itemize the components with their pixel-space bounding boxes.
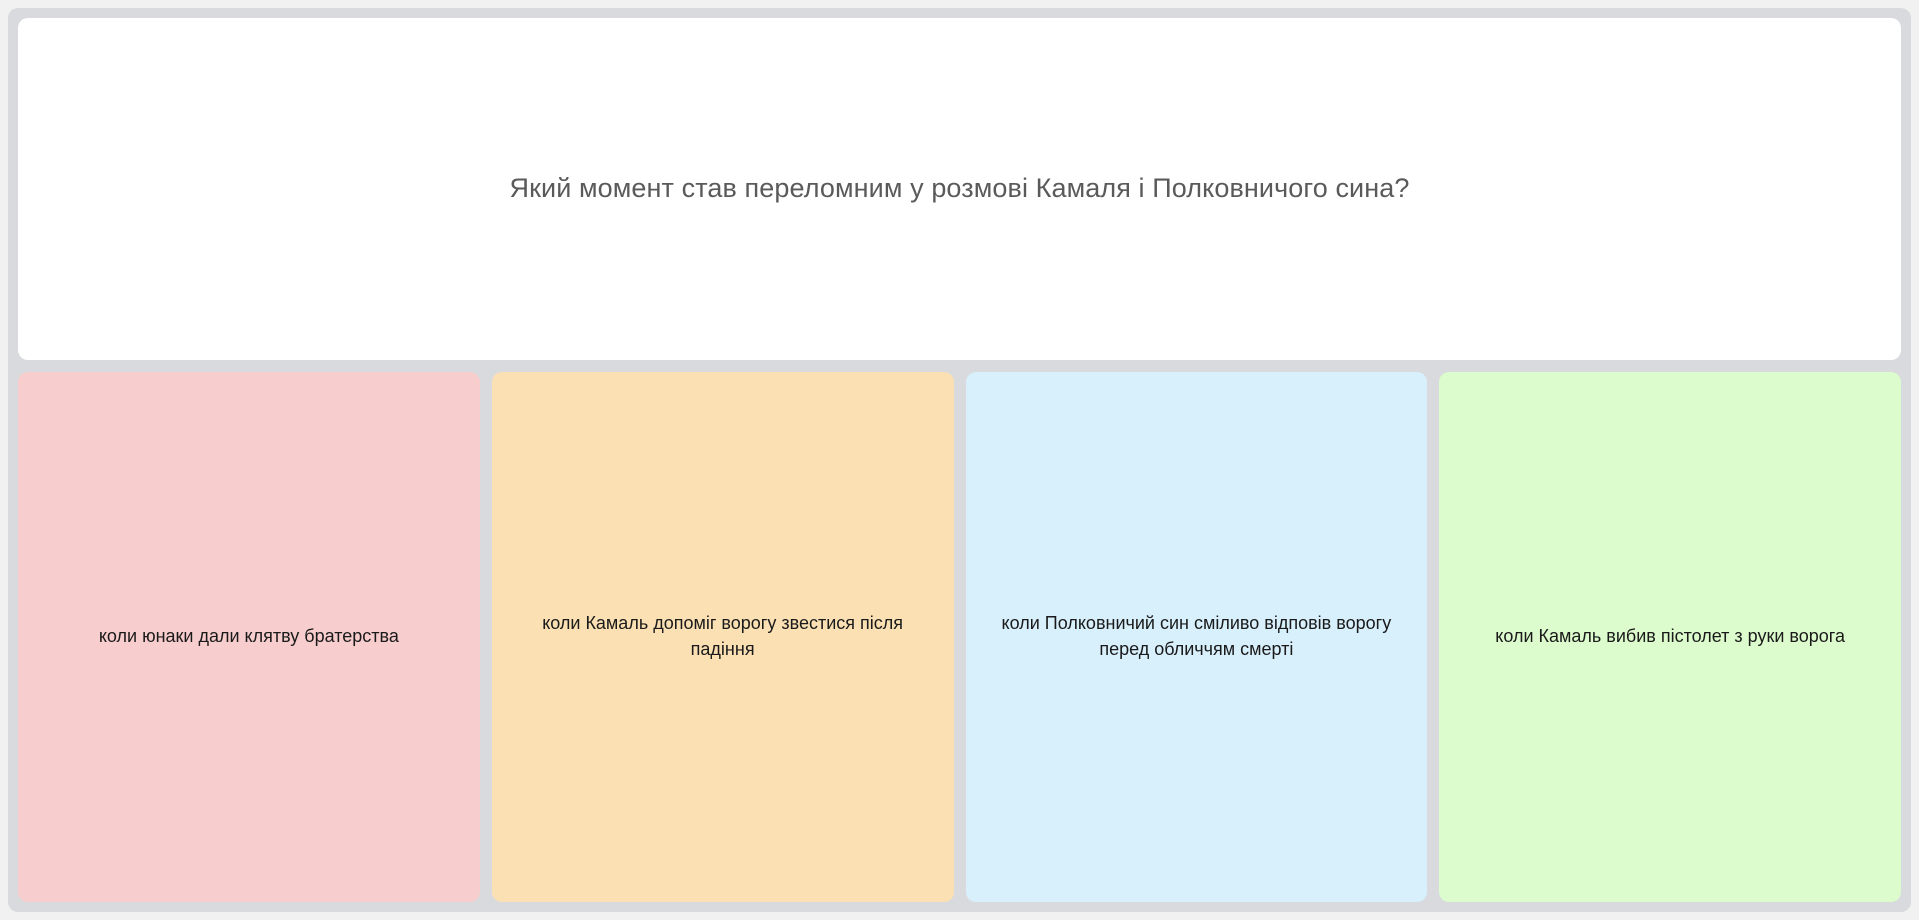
question-panel: Який момент став переломним у розмові Ка… xyxy=(18,18,1901,360)
question-text: Який момент став переломним у розмові Ка… xyxy=(510,171,1410,206)
answer-option-2[interactable]: коли Камаль допоміг ворогу звестися післ… xyxy=(492,372,954,902)
answer-option-4[interactable]: коли Камаль вибив пістолет з руки ворога xyxy=(1439,372,1901,902)
answer-option-1[interactable]: коли юнаки дали клятву братерства xyxy=(18,372,480,902)
answer-option-4-label: коли Камаль вибив пістолет з руки ворога xyxy=(1495,624,1845,650)
answer-option-3[interactable]: коли Полковничий син сміливо відповів во… xyxy=(966,372,1428,902)
answer-option-2-label: коли Камаль допоміг ворогу звестися післ… xyxy=(518,611,928,662)
answer-option-3-label: коли Полковничий син сміливо відповів во… xyxy=(992,611,1402,662)
quiz-app: Який момент став переломним у розмові Ка… xyxy=(8,8,1911,912)
answer-options-row: коли юнаки дали клятву братерства коли К… xyxy=(18,372,1901,902)
answer-option-1-label: коли юнаки дали клятву братерства xyxy=(99,624,399,650)
